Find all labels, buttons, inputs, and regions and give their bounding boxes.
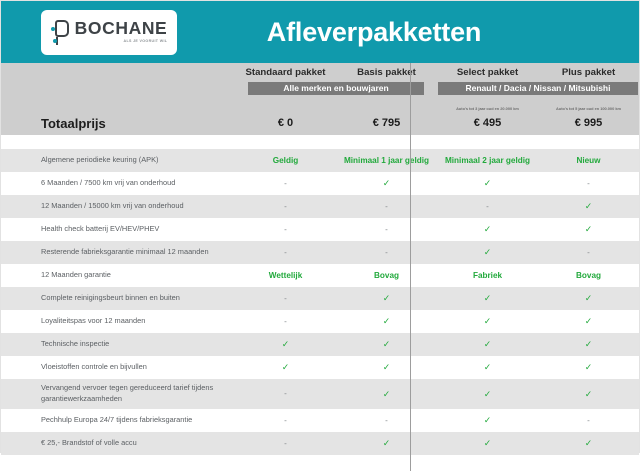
feature-value-cell: ✓ [437,379,538,409]
feature-value-cell: Wettelijk [235,264,336,287]
feature-label: 6 Maanden / 7500 km vrij van onderhoud [1,172,235,195]
feature-value-cell: - [336,195,437,218]
dash-icon: - [385,226,388,234]
value-text: Geldig [273,156,298,165]
package-name: Standaard pakket [246,68,326,79]
feature-label-text: Health check batterij EV/HEV/PHEV [41,224,159,235]
feature-value-cell: - [235,310,336,333]
feature-label: Resterende fabrieksgarantie minimaal 12 … [1,241,235,264]
dash-icon: - [284,440,287,448]
dash-icon: - [284,203,287,211]
check-icon: ✓ [282,363,290,372]
value-text: Fabriek [473,271,502,280]
table-footer-space [1,455,639,471]
feature-value-cell: - [235,241,336,264]
feature-label: Algemene periodieke keuring (APK) [1,149,235,172]
table-row: Complete reinigingsbeurt binnen en buite… [1,287,639,310]
check-icon: ✓ [484,340,492,349]
feature-label-text: € 25,- Brandstof of volle accu [41,438,137,449]
dash-icon: - [284,249,287,257]
feature-value-cell: ✓ [437,310,538,333]
feature-value-cell: - [235,172,336,195]
feature-label-text: Algemene periodieke keuring (APK) [41,155,159,166]
feature-value-cell: - [336,241,437,264]
feature-value-cell: Geldig [235,149,336,172]
check-icon: ✓ [585,225,593,234]
feature-value-cell: ✓ [437,356,538,379]
feature-value-cell: ✓ [538,432,639,455]
group-badge-select-plus: Renault / Dacia / Nissan / Mitsubishi [438,82,638,95]
table-row: Loyaliteitspas voor 12 maanden-✓✓✓ [1,310,639,333]
table-row: € 25,- Brandstof of volle accu-✓✓✓ [1,432,639,455]
feature-value-cell: ✓ [235,333,336,356]
column-header-standaard: Standaard pakket [235,63,336,79]
table-row: Pechhulp Europa 24/7 tijdens fabrieksgar… [1,409,639,432]
check-icon: ✓ [383,363,391,372]
check-icon: ✓ [484,248,492,257]
feature-label: Vloeistoffen controle en bijvullen [1,356,235,379]
feature-value-cell: ✓ [538,218,639,241]
check-icon: ✓ [585,202,593,211]
feature-label-text: 6 Maanden / 7500 km vrij van onderhoud [41,178,175,189]
group-divider [410,63,411,471]
value-text: Nieuw [576,156,600,165]
feature-value-cell: - [336,218,437,241]
value-text: Minimaal 2 jaar geldig [445,156,530,165]
package-note-plus: Auto's tot 5 jaar oud en 100.000 km [556,106,621,111]
feature-label-text: 12 Maanden garantie [41,270,111,281]
package-name: Basis pakket [357,68,416,79]
column-header-plus: Plus pakket [538,63,639,79]
feature-label-text: Resterende fabrieksgarantie minimaal 12 … [41,247,209,258]
price-standaard: € 0 [278,117,293,129]
price-basis: € 795 [373,117,401,129]
feature-value-cell: ✓ [437,241,538,264]
feature-value-cell: ✓ [336,172,437,195]
feature-value-cell: ✓ [538,379,639,409]
column-header-basis: Basis pakket [336,63,437,79]
feature-value-cell: ✓ [336,356,437,379]
feature-label-text: Vloeistoffen controle en bijvullen [41,362,147,373]
check-icon: ✓ [484,294,492,303]
check-icon: ✓ [484,317,492,326]
dash-icon: - [284,295,287,303]
feature-label-text: Pechhulp Europa 24/7 tijdens fabrieksgar… [41,415,192,426]
feature-value-cell: - [235,409,336,432]
check-icon: ✓ [484,439,492,448]
feature-value-cell: ✓ [336,333,437,356]
value-text: Bovag [576,271,601,280]
check-icon: ✓ [383,340,391,349]
check-icon: ✓ [585,294,593,303]
feature-value-cell: ✓ [437,432,538,455]
feature-label: 12 Maanden / 15000 km vrij van onderhoud [1,195,235,218]
feature-label-text: Complete reinigingsbeurt binnen en buite… [41,293,180,304]
value-text: Minimaal 1 jaar geldig [344,156,429,165]
feature-value-cell: ✓ [437,409,538,432]
check-icon: ✓ [383,439,391,448]
table-row: Resterende fabrieksgarantie minimaal 12 … [1,241,639,264]
feature-value-cell: ✓ [538,356,639,379]
check-icon: ✓ [383,294,391,303]
feature-value-cell: ✓ [437,333,538,356]
package-comparison-table: Standaard pakket Basis pakket Alle merke… [1,63,639,471]
check-icon: ✓ [585,390,593,399]
table-row: 12 Maanden / 15000 km vrij van onderhoud… [1,195,639,218]
check-icon: ✓ [484,416,492,425]
dash-icon: - [385,203,388,211]
check-icon: ✓ [484,390,492,399]
dash-icon: - [587,249,590,257]
feature-value-cell: - [437,195,538,218]
total-price-label: Totaalprijs [1,116,235,131]
feature-value-cell: ✓ [336,379,437,409]
feature-value-cell: - [538,172,639,195]
feature-value-cell: ✓ [336,287,437,310]
price-plus: € 995 [575,117,603,129]
feature-label: 12 Maanden garantie [1,264,235,287]
feature-value-cell: ✓ [437,172,538,195]
feature-label: Loyaliteitspas voor 12 maanden [1,310,235,333]
table-header-block: Standaard pakket Basis pakket Alle merke… [1,63,639,135]
feature-value-cell: Minimaal 1 jaar geldig [336,149,437,172]
feature-label-text: 12 Maanden / 15000 km vrij van onderhoud [41,201,184,212]
page-title: Afleverpakketten [1,17,639,48]
dash-icon: - [587,180,590,188]
value-text: Bovag [374,271,399,280]
dash-icon: - [284,390,287,398]
feature-value-cell: - [235,218,336,241]
table-row: Health check batterij EV/HEV/PHEV--✓✓ [1,218,639,241]
feature-label-text: Loyaliteitspas voor 12 maanden [41,316,145,327]
feature-label: € 25,- Brandstof of volle accu [1,432,235,455]
check-icon: ✓ [383,179,391,188]
feature-value-cell: ✓ [538,287,639,310]
check-icon: ✓ [383,390,391,399]
feature-value-cell: ✓ [437,218,538,241]
feature-value-cell: Bovag [336,264,437,287]
check-icon: ✓ [585,317,593,326]
dash-icon: - [587,417,590,425]
feature-value-cell: ✓ [336,432,437,455]
feature-value-cell: - [538,241,639,264]
table-row: Algemene periodieke keuring (APK)GeldigM… [1,149,639,172]
check-icon: ✓ [383,317,391,326]
feature-value-cell: - [235,432,336,455]
group-standaard-basis: Standaard pakket Basis pakket Alle merke… [235,63,437,111]
feature-value-cell: - [235,379,336,409]
group-badge-standaard-basis: Alle merken en bouwjaren [248,82,424,95]
check-icon: ✓ [484,363,492,372]
package-name: Plus pakket [562,68,615,79]
feature-value-cell: ✓ [235,356,336,379]
feature-label: Health check batterij EV/HEV/PHEV [1,218,235,241]
header-label-spacer [1,63,235,111]
dash-icon: - [385,249,388,257]
header-body-gap [1,135,639,149]
feature-value-cell: - [538,409,639,432]
feature-value-cell: ✓ [336,310,437,333]
table-row: Vloeistoffen controle en bijvullen✓✓✓✓ [1,356,639,379]
feature-value-cell: ✓ [538,195,639,218]
check-icon: ✓ [585,340,593,349]
dash-icon: - [284,180,287,188]
feature-value-cell: ✓ [437,287,538,310]
dash-icon: - [486,203,489,211]
feature-value-cell: - [336,409,437,432]
dash-icon: - [284,226,287,234]
feature-value-cell: Fabriek [437,264,538,287]
feature-value-cell: ✓ [538,333,639,356]
feature-value-cell: - [235,287,336,310]
feature-rows: Algemene periodieke keuring (APK)GeldigM… [1,149,639,455]
table-row: Technische inspectie✓✓✓✓ [1,333,639,356]
package-note-select: Auto's tot 3 jaar oud en 20.000 km [456,106,519,111]
feature-label: Technische inspectie [1,333,235,356]
group-select-plus: Select pakket Plus pakket Renault / Daci… [437,63,639,111]
feature-value-cell: Minimaal 2 jaar geldig [437,149,538,172]
feature-value-cell: Nieuw [538,149,639,172]
feature-value-cell: - [235,195,336,218]
value-text: Wettelijk [269,271,303,280]
dash-icon: - [284,417,287,425]
table-row: 6 Maanden / 7500 km vrij van onderhoud-✓… [1,172,639,195]
table-row: Vervangend vervoer tegen gereduceerd tar… [1,379,639,409]
total-price-row: Totaalprijs € 0 € 795 € 495 € 995 [1,111,639,135]
afleverpakketten-page: BOCHANE ALS JE VOORUIT WIL Afleverpakket… [0,0,640,453]
check-icon: ✓ [282,340,290,349]
feature-label: Complete reinigingsbeurt binnen en buite… [1,287,235,310]
feature-label-text: Technische inspectie [41,339,109,350]
feature-label: Pechhulp Europa 24/7 tijdens fabrieksgar… [1,409,235,432]
package-name: Select pakket [457,68,518,79]
dash-icon: - [284,318,287,326]
check-icon: ✓ [585,363,593,372]
check-icon: ✓ [484,179,492,188]
feature-label: Vervangend vervoer tegen gereduceerd tar… [1,379,235,409]
check-icon: ✓ [585,439,593,448]
dash-icon: - [385,417,388,425]
table-row: 12 Maanden garantieWettelijkBovagFabriek… [1,264,639,287]
feature-label-text: Vervangend vervoer tegen gereduceerd tar… [41,383,227,404]
feature-value-cell: ✓ [538,310,639,333]
feature-value-cell: Bovag [538,264,639,287]
check-icon: ✓ [484,225,492,234]
column-header-select: Select pakket [437,63,538,79]
page-header: BOCHANE ALS JE VOORUIT WIL Afleverpakket… [1,1,639,63]
price-select: € 495 [474,117,502,129]
